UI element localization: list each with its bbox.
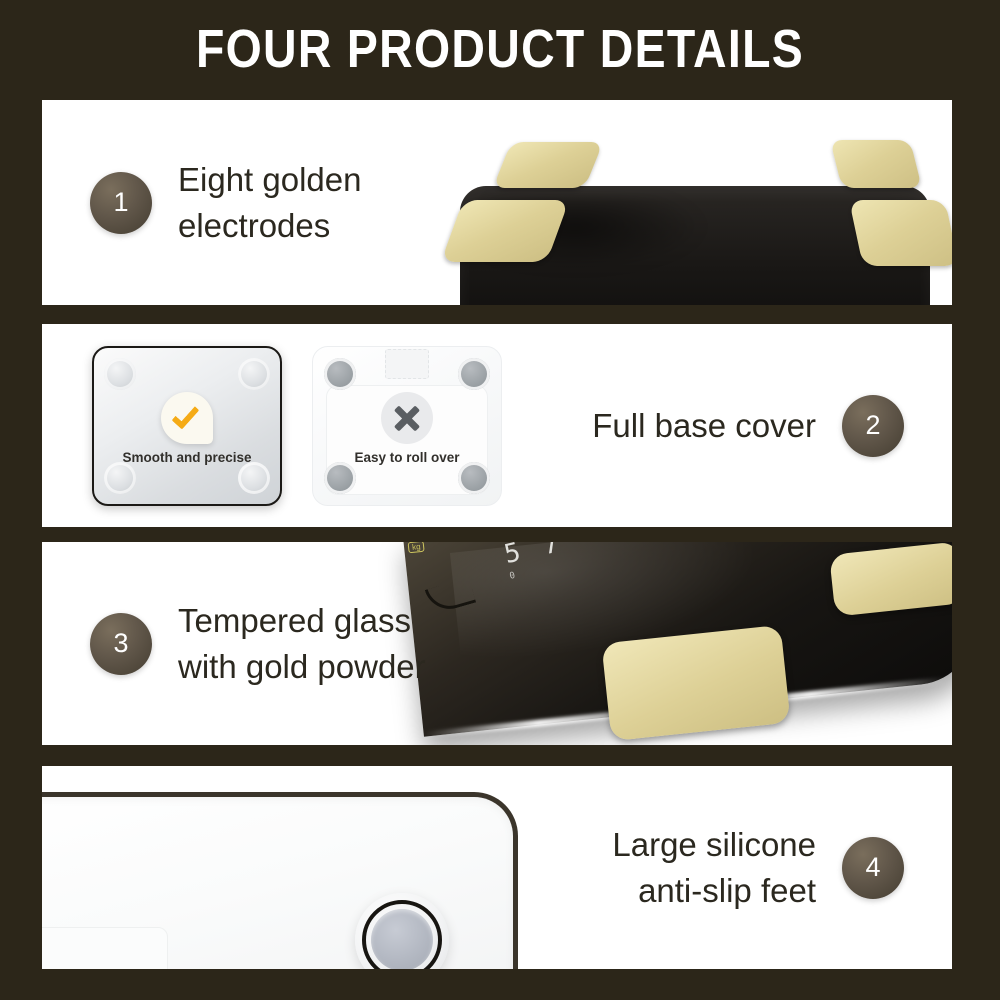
gold-electrode-pad xyxy=(601,625,790,741)
base-foot xyxy=(238,462,270,494)
glass-led-readout: 5 7 0 xyxy=(501,542,658,590)
gold-electrode-pad xyxy=(829,542,952,617)
base-foot xyxy=(458,358,490,390)
base-foot xyxy=(324,358,356,390)
base-foot xyxy=(458,462,490,494)
surface-detail xyxy=(42,965,82,969)
panel-1-caption: 1 Eight golden electrodes xyxy=(90,100,361,305)
infographic-page: FOUR PRODUCT DETAILS 525. 62. 79. --- 11… xyxy=(0,0,1000,1000)
scale-base-surface xyxy=(42,792,518,969)
step-badge-1: 1 xyxy=(90,172,152,234)
panel-2-label: Full base cover xyxy=(592,403,816,449)
x-icon xyxy=(381,392,433,444)
detail-panel-4: Large silicone anti-slip feet 4 xyxy=(42,766,952,969)
battery-port xyxy=(385,349,429,379)
step-badge-2: 2 xyxy=(842,395,904,457)
base-cover-good-label: Smooth and precise xyxy=(92,450,282,465)
detail-panel-2: Smooth and precise Easy to roll over xyxy=(42,324,952,527)
silicone-foot-image xyxy=(42,766,542,969)
base-cover-comparison-image: Smooth and precise Easy to roll over xyxy=(42,324,512,527)
step-badge-3: 3 xyxy=(90,613,152,675)
check-icon xyxy=(161,392,213,444)
step-badge-4: 4 xyxy=(842,837,904,899)
base-foot xyxy=(104,358,136,390)
panel-2-caption: Full base cover 2 xyxy=(592,324,904,527)
gold-electrode-pad xyxy=(493,142,604,188)
base-foot xyxy=(238,358,270,390)
panel-3-label: Tempered glass with gold powder xyxy=(178,598,426,689)
panel-4-caption: Large silicone anti-slip feet 4 xyxy=(612,766,904,969)
base-foot xyxy=(324,462,356,494)
base-cover-bad: Easy to roll over xyxy=(312,346,502,506)
battery-compartment xyxy=(42,927,168,969)
page-title: FOUR PRODUCT DETAILS xyxy=(70,18,930,80)
panel-4-label: Large silicone anti-slip feet xyxy=(612,822,816,913)
base-cover-good: Smooth and precise xyxy=(92,346,282,506)
scale-top-view-image: 525. 62. 79. --- 110. 88. 556. 88 xyxy=(432,100,952,305)
panel-3-caption: 3 Tempered glass with gold powder xyxy=(90,542,426,745)
cord-detail xyxy=(425,577,476,615)
gold-electrode-pad xyxy=(849,200,952,266)
detail-panel-1: 525. 62. 79. --- 110. 88. 556. 88 1 Eigh… xyxy=(42,100,952,305)
gold-electrode-pad xyxy=(830,140,922,188)
panel-1-label: Eight golden electrodes xyxy=(178,157,361,248)
base-foot xyxy=(104,462,136,494)
silicone-foot xyxy=(355,893,449,969)
base-cover-bad-label: Easy to roll over xyxy=(312,450,502,465)
detail-panel-3: 5 7 0 kg 3 Tempered glass with gold powd… xyxy=(42,542,952,745)
tempered-glass-corner-image: 5 7 0 kg xyxy=(432,542,952,745)
